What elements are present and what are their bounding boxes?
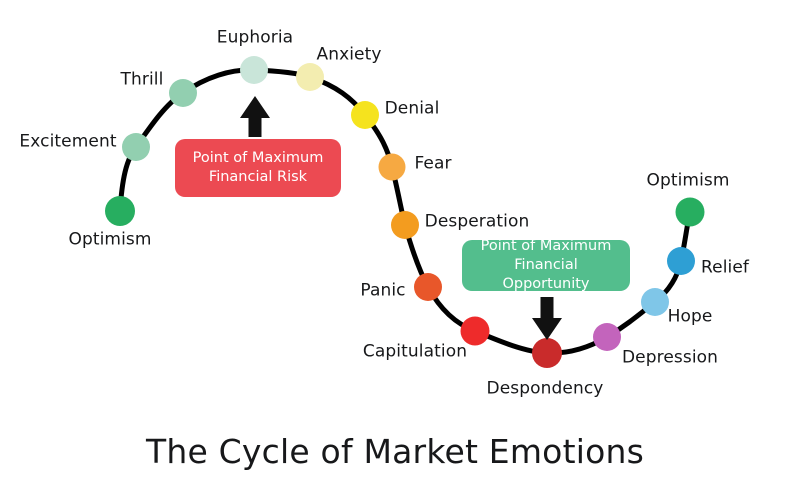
emotion-node-panic-8 <box>414 273 442 301</box>
callout-opportunity-line2: Financial Opportunity <box>472 256 620 294</box>
emotion-node-excitement-1 <box>122 133 150 161</box>
market-emotion-cycle-diagram: OptimismExcitementThrillEuphoriaAnxietyD… <box>0 0 790 500</box>
emotion-label-thrill-2: Thrill <box>121 72 164 89</box>
emotion-label-desperation-7: Desperation <box>425 214 530 231</box>
emotion-label-fear-6: Fear <box>414 156 451 173</box>
emotion-label-excitement-1: Excitement <box>19 134 116 151</box>
callout-risk-line1: Point of Maximum <box>193 149 324 168</box>
emotion-node-fear-6 <box>379 154 406 181</box>
page-title: The Cycle of Market Emotions <box>0 435 790 468</box>
emotion-label-euphoria-3: Euphoria <box>217 30 293 47</box>
emotion-label-capitulation-9: Capitulation <box>363 344 467 361</box>
cycle-curve-svg <box>0 0 790 500</box>
emotion-label-despondency-10: Despondency <box>487 381 604 398</box>
emotion-node-optimism-0 <box>105 196 135 226</box>
emotion-node-depression-11 <box>593 323 621 351</box>
callout-maximum-financial-opportunity: Point of Maximum Financial Opportunity <box>462 240 630 291</box>
emotion-label-hope-12: Hope <box>668 309 713 326</box>
arrow-up-icon-risk <box>240 96 270 137</box>
emotion-label-optimism-0: Optimism <box>68 232 151 249</box>
callout-maximum-financial-risk: Point of Maximum Financial Risk <box>175 139 341 197</box>
emotion-label-depression-11: Depression <box>622 350 718 367</box>
emotion-label-optimism-14: Optimism <box>646 173 729 190</box>
emotion-node-optimism-14 <box>676 198 705 227</box>
emotion-node-euphoria-3 <box>240 56 268 84</box>
emotion-label-denial-5: Denial <box>385 101 440 118</box>
emotion-label-anxiety-4: Anxiety <box>316 47 381 64</box>
arrow-down-icon-opportunity <box>532 297 562 340</box>
emotion-node-anxiety-4 <box>296 63 324 91</box>
emotion-label-relief-13: Relief <box>701 260 749 277</box>
emotion-node-desperation-7 <box>391 211 419 239</box>
callout-opportunity-line1: Point of Maximum <box>472 237 620 256</box>
emotion-node-denial-5 <box>351 101 379 129</box>
emotion-node-hope-12 <box>641 288 669 316</box>
callout-risk-line2: Financial Risk <box>193 168 324 187</box>
emotion-node-despondency-10 <box>532 338 562 368</box>
emotion-node-thrill-2 <box>169 79 197 107</box>
emotion-node-relief-13 <box>667 247 695 275</box>
emotion-label-panic-8: Panic <box>360 283 405 300</box>
